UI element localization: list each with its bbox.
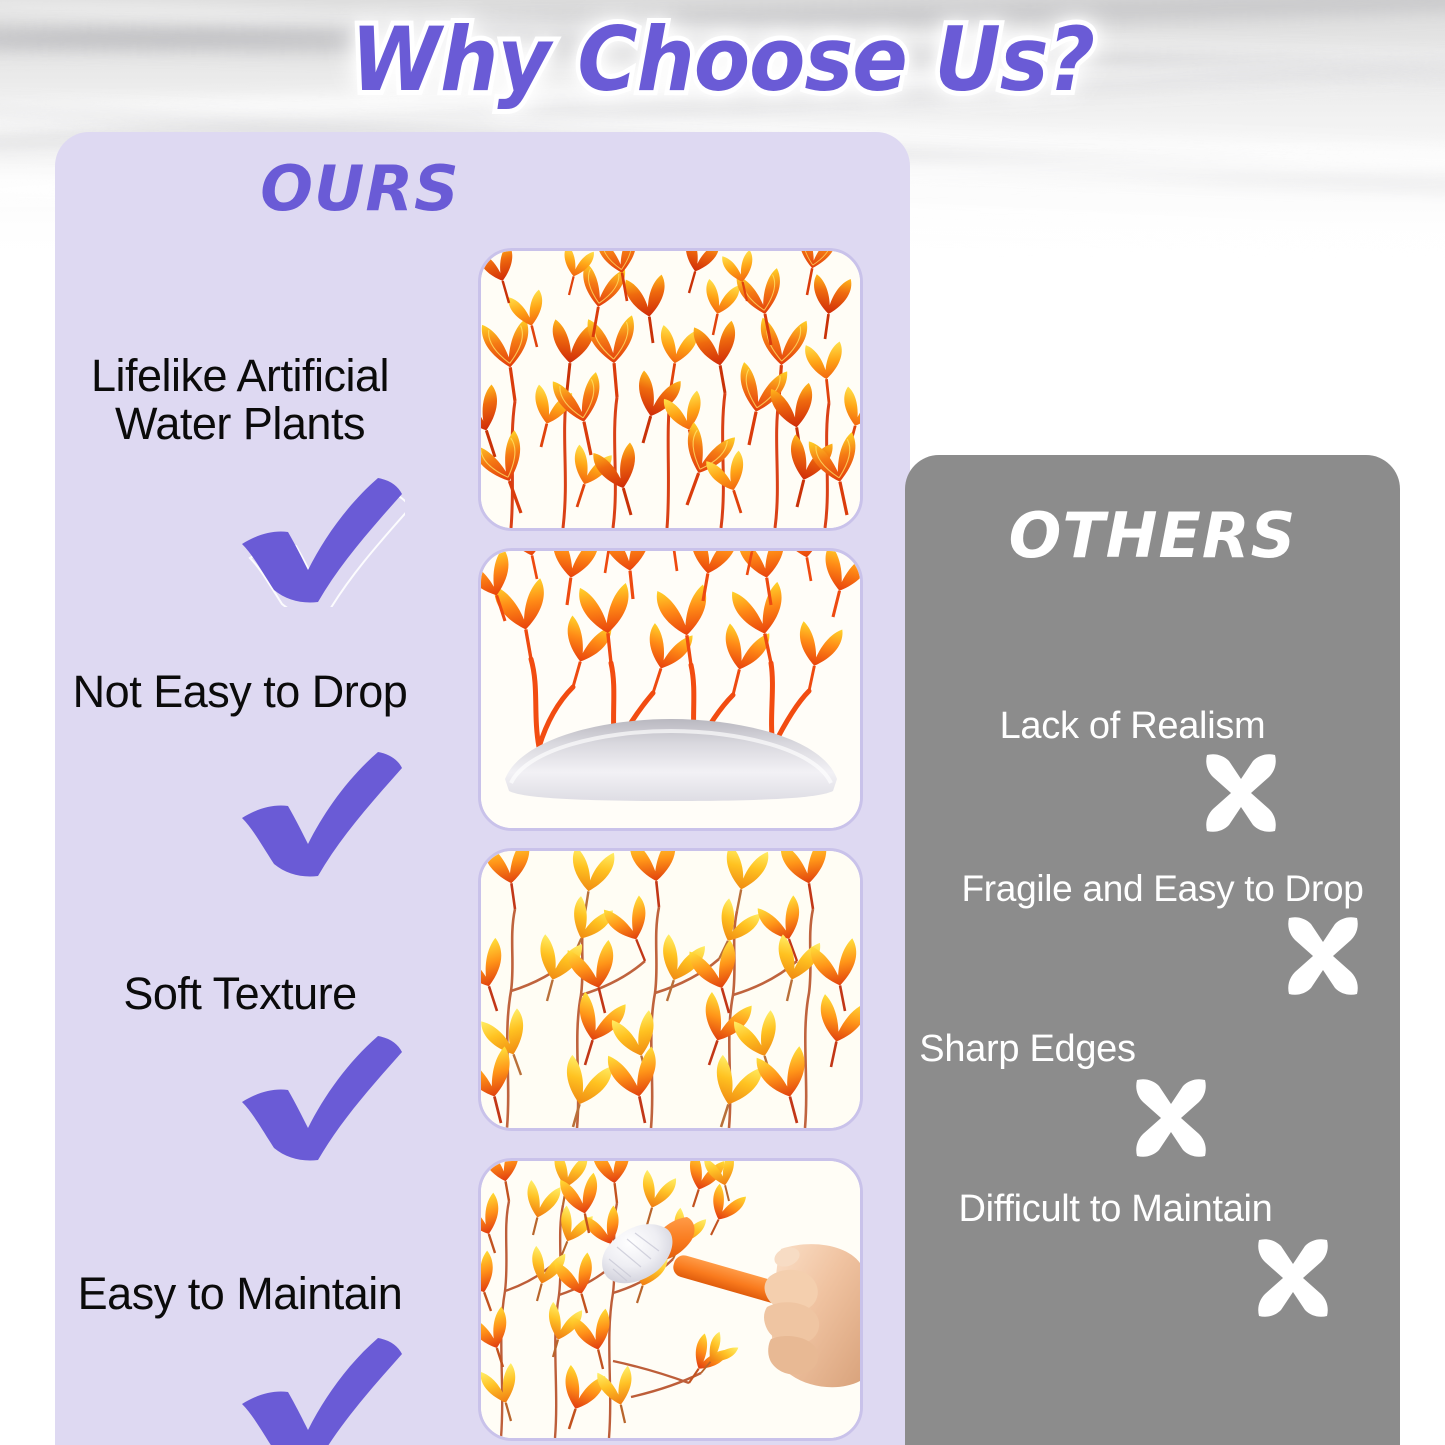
drawback-label-3: Sharp Edges	[790, 1028, 1265, 1071]
check-icon	[230, 1030, 405, 1170]
cross-icon	[1275, 912, 1371, 1013]
plant-illustration-soft	[481, 851, 860, 1128]
ours-heading: OURS	[55, 152, 665, 225]
plant-art-3	[481, 851, 860, 1128]
others-heading: OTHERS	[905, 499, 1400, 572]
check-icon	[230, 472, 405, 612]
cross-icon	[1123, 1074, 1219, 1175]
feature-label-2: Not Easy to Drop	[30, 668, 450, 716]
plant-illustration-dense	[481, 251, 860, 528]
cleaning-illustration	[481, 1161, 860, 1438]
cross-icon	[1193, 749, 1289, 850]
check-icon	[230, 1332, 405, 1445]
plant-art-1	[481, 251, 860, 528]
hand-illustration	[764, 1244, 860, 1387]
feature-label-3: Soft Texture	[30, 970, 450, 1018]
feature-label-1: Lifelike Artificial Water Plants	[30, 352, 450, 447]
product-image-2	[478, 548, 863, 831]
infographic-stage: Why Choose Us? OURS Lifelike Artificial …	[0, 0, 1445, 1445]
plant-art-2	[481, 551, 860, 828]
drawback-label-4: Difficult to Maintain	[878, 1188, 1353, 1231]
drawback-label-2: Fragile and Easy to Drop	[925, 868, 1400, 910]
plant-art-4	[481, 1161, 860, 1438]
plant-with-base-illustration	[481, 551, 860, 828]
cross-icon	[1245, 1234, 1341, 1335]
product-image-3	[478, 848, 863, 1131]
product-image-4	[478, 1158, 863, 1441]
feature-label-4: Easy to Maintain	[30, 1270, 450, 1318]
product-image-1	[478, 248, 863, 531]
page-title: Why Choose Us?	[51, 8, 1395, 111]
check-icon	[230, 746, 405, 886]
drawback-label-1: Lack of Realism	[895, 705, 1370, 748]
